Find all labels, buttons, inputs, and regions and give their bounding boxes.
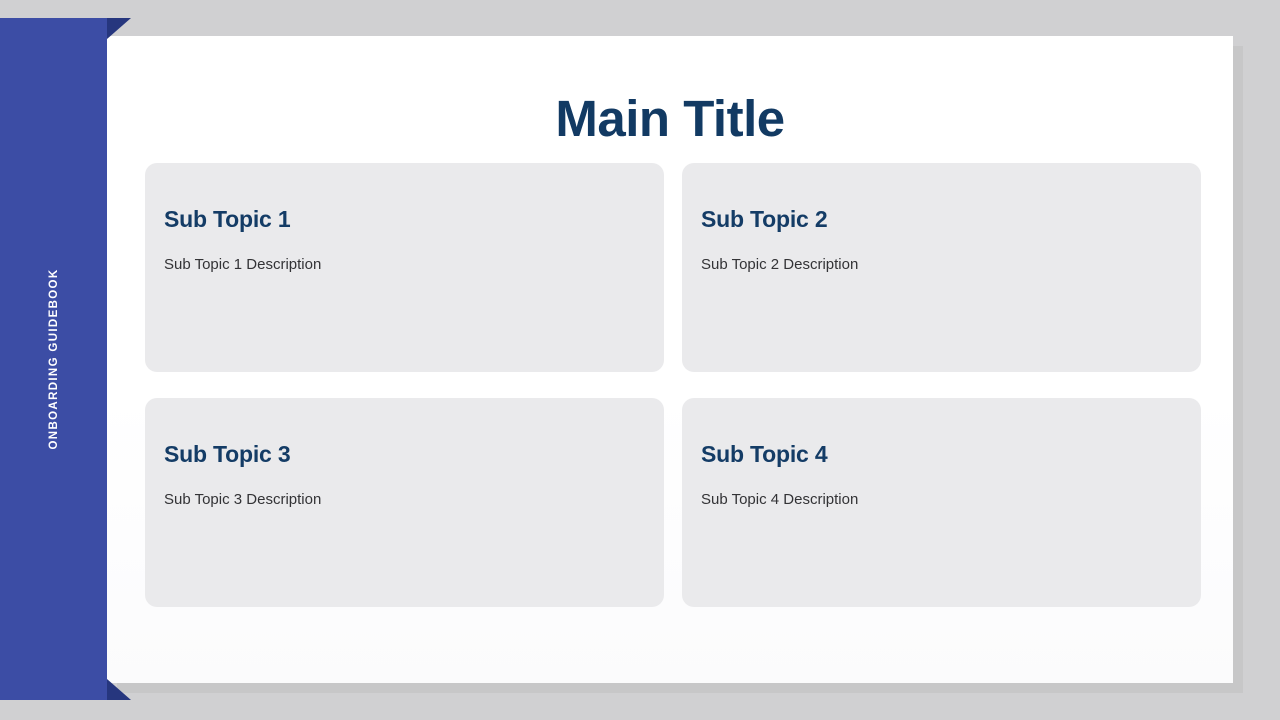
page-title: Main Title	[107, 88, 1233, 149]
sidebar-ribbon-label: ONBOARDING GUIDEBOOK	[48, 269, 60, 450]
sidebar-ribbon: ONBOARDING GUIDEBOOK	[0, 18, 107, 700]
subtopic-card-title: Sub Topic 4	[701, 442, 1201, 467]
subtopic-card-title: Sub Topic 1	[164, 207, 664, 232]
subtopic-card-description: Sub Topic 2 Description	[701, 255, 1201, 275]
subtopic-card-1[interactable]: Sub Topic 1 Sub Topic 1 Description	[145, 163, 664, 372]
subtopic-card-2[interactable]: Sub Topic 2 Sub Topic 2 Description	[682, 163, 1201, 372]
subtopic-card-description: Sub Topic 1 Description	[164, 255, 664, 275]
ribbon-fold-top-shape	[107, 18, 131, 39]
subtopic-card-3[interactable]: Sub Topic 3 Sub Topic 3 Description	[145, 398, 664, 607]
subtopic-card-description: Sub Topic 4 Description	[701, 490, 1201, 510]
subtopic-card-title: Sub Topic 3	[164, 442, 664, 467]
subtopic-card-4[interactable]: Sub Topic 4 Sub Topic 4 Description	[682, 398, 1201, 607]
slide-canvas: Main Title Sub Topic 1 Sub Topic 1 Descr…	[107, 36, 1233, 683]
subtopic-card-description: Sub Topic 3 Description	[164, 490, 664, 510]
ribbon-fold-bottom-shape	[107, 679, 131, 700]
subtopic-card-grid: Sub Topic 1 Sub Topic 1 Description Sub …	[145, 163, 1200, 612]
subtopic-card-title: Sub Topic 2	[701, 207, 1201, 232]
